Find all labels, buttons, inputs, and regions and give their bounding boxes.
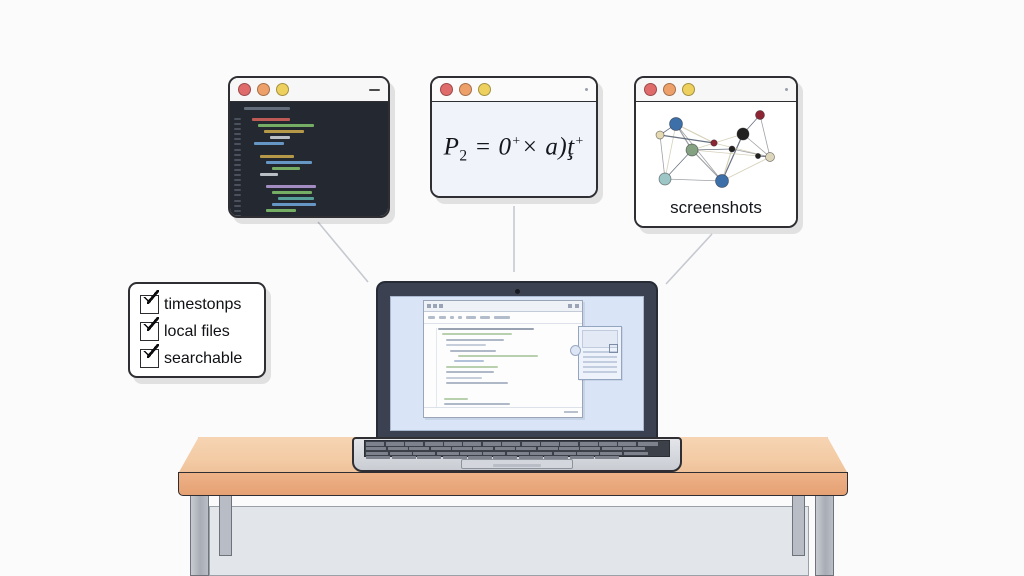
keyboard-key[interactable] <box>580 442 598 445</box>
desk-leg-right <box>815 484 834 576</box>
desk-back-panel <box>209 506 809 576</box>
panel-row <box>583 361 617 363</box>
keyboard-key[interactable] <box>483 442 501 445</box>
close-icon[interactable] <box>440 83 453 96</box>
keyboard-key[interactable] <box>366 447 386 450</box>
trackpad-notch <box>493 464 541 467</box>
keyboard-key[interactable] <box>460 452 482 455</box>
keyboard-key[interactable] <box>409 447 429 450</box>
keyboard-key[interactable] <box>483 452 505 455</box>
keyboard-key[interactable] <box>463 442 481 445</box>
minimize-icon[interactable] <box>568 304 572 308</box>
desk-leg-left <box>190 484 209 576</box>
keyboard-key[interactable] <box>638 442 658 445</box>
formula-body: P2 = 0+× a)ţ+ <box>432 102 596 196</box>
keyboard-key[interactable] <box>417 456 441 459</box>
keyboard-key[interactable] <box>516 447 536 450</box>
code-line-numbers <box>234 118 241 210</box>
minimize-dash-icon[interactable] <box>369 89 380 91</box>
laptop-editor-window[interactable] <box>423 300 583 418</box>
code-window-titlebar[interactable] <box>230 78 388 102</box>
traffic-light-buttons[interactable] <box>440 83 491 96</box>
formula-window[interactable]: P2 = 0+× a)ţ+ <box>430 76 598 198</box>
desk-leg-inner-right <box>792 490 805 556</box>
copy-icon[interactable] <box>609 344 618 353</box>
code-text-area[interactable] <box>248 118 382 216</box>
webcam-icon <box>515 289 520 294</box>
panel-row <box>583 356 617 358</box>
keyboard-key[interactable] <box>559 447 579 450</box>
laptop-editor-gutter <box>428 328 437 407</box>
keyboard-key[interactable] <box>405 442 423 445</box>
keyboard-key[interactable] <box>530 452 552 455</box>
list-item[interactable]: searchable <box>140 347 256 370</box>
close-icon[interactable] <box>644 83 657 96</box>
math-formula: P2 = 0+× a)ţ+ <box>444 133 585 165</box>
graph-body: screenshots <box>636 102 796 226</box>
keyboard-key[interactable] <box>444 442 462 445</box>
list-item[interactable]: local files <box>140 320 256 343</box>
window-icon <box>439 304 443 308</box>
window-menu-icon[interactable] <box>785 88 788 91</box>
keyboard-key[interactable] <box>554 452 576 455</box>
keyboard-key[interactable] <box>386 442 404 445</box>
keyboard-key[interactable] <box>623 447 645 450</box>
formula-window-titlebar[interactable] <box>432 78 596 102</box>
code-editor-body <box>230 102 388 216</box>
keyboard-key[interactable] <box>624 452 648 455</box>
keyboard-key[interactable] <box>541 442 559 445</box>
maximize-icon[interactable] <box>478 83 491 96</box>
keyboard-key[interactable] <box>390 452 412 455</box>
keyboard-key[interactable] <box>602 447 622 450</box>
code-editor-window[interactable] <box>228 76 390 218</box>
laptop-editor-statusbar <box>424 407 582 417</box>
keyboard-key[interactable] <box>595 456 619 459</box>
keyboard-key[interactable] <box>473 447 493 450</box>
keyboard-key[interactable] <box>618 442 636 445</box>
keyboard-key[interactable] <box>538 447 558 450</box>
checkbox-checked-icon[interactable] <box>140 322 159 341</box>
keyboard-key[interactable] <box>560 442 578 445</box>
laptop-keyboard[interactable] <box>364 440 670 457</box>
maximize-icon[interactable] <box>276 83 289 96</box>
keyboard-key[interactable] <box>502 442 520 445</box>
close-icon[interactable] <box>238 83 251 96</box>
network-graph-diagram <box>636 102 800 194</box>
keyboard-key[interactable] <box>452 447 472 450</box>
keyboard-key[interactable] <box>431 447 451 450</box>
maximize-icon[interactable] <box>682 83 695 96</box>
minimize-icon[interactable] <box>663 83 676 96</box>
keyboard-key[interactable] <box>577 452 599 455</box>
keyboard-key[interactable] <box>600 452 622 455</box>
minimize-icon[interactable] <box>459 83 472 96</box>
code-file-path <box>244 107 290 110</box>
checklist-item-label: timestonps <box>164 296 241 314</box>
keyboard-key[interactable] <box>522 442 540 445</box>
keyboard-key[interactable] <box>388 447 408 450</box>
minimize-icon[interactable] <box>257 83 270 96</box>
list-item[interactable]: timestonps <box>140 293 256 316</box>
keyboard-key[interactable] <box>507 452 529 455</box>
keyboard-key[interactable] <box>425 442 443 445</box>
checklist-item-label: searchable <box>164 350 242 368</box>
desk-leg-inner-left <box>219 490 232 556</box>
laptop-editor-titlebar[interactable] <box>424 301 582 312</box>
panel-row <box>583 366 617 368</box>
checkbox-checked-icon[interactable] <box>140 349 159 368</box>
laptop-side-panel[interactable] <box>578 326 622 380</box>
keyboard-key[interactable] <box>580 447 600 450</box>
panel-handle-icon[interactable] <box>570 345 581 356</box>
window-icon <box>433 304 437 308</box>
keyboard-key[interactable] <box>570 456 594 459</box>
graph-window-titlebar[interactable] <box>636 78 796 102</box>
laptop-editor-toolbar[interactable] <box>424 312 582 324</box>
keyboard-key[interactable] <box>413 452 435 455</box>
window-icon <box>427 304 431 308</box>
desk-front-edge <box>178 472 848 496</box>
maximize-icon[interactable] <box>575 304 579 308</box>
keyboard-key[interactable] <box>437 452 459 455</box>
keyboard-key[interactable] <box>366 452 388 455</box>
keyboard-key[interactable] <box>366 456 390 459</box>
checkbox-checked-icon[interactable] <box>140 295 159 314</box>
keyboard-key[interactable] <box>392 456 416 459</box>
keyboard-key[interactable] <box>599 442 617 445</box>
feature-checklist-card: timestonps local files searchable <box>128 282 266 378</box>
window-menu-icon[interactable] <box>585 88 588 91</box>
illustration-canvas: P2 = 0+× a)ţ+ screenshots timestonps loc… <box>0 0 1024 576</box>
traffic-light-buttons[interactable] <box>238 83 289 96</box>
keyboard-key[interactable] <box>495 447 515 450</box>
panel-row <box>583 371 617 373</box>
graph-caption: screenshots <box>636 198 796 218</box>
network-graph-window[interactable]: screenshots <box>634 76 798 228</box>
window-controls[interactable] <box>568 304 579 308</box>
traffic-light-buttons[interactable] <box>644 83 695 96</box>
keyboard-key[interactable] <box>366 442 384 445</box>
laptop-editor-code[interactable] <box>438 328 578 407</box>
checklist-item-label: local files <box>164 323 230 341</box>
laptop-trackpad[interactable] <box>461 459 573 469</box>
